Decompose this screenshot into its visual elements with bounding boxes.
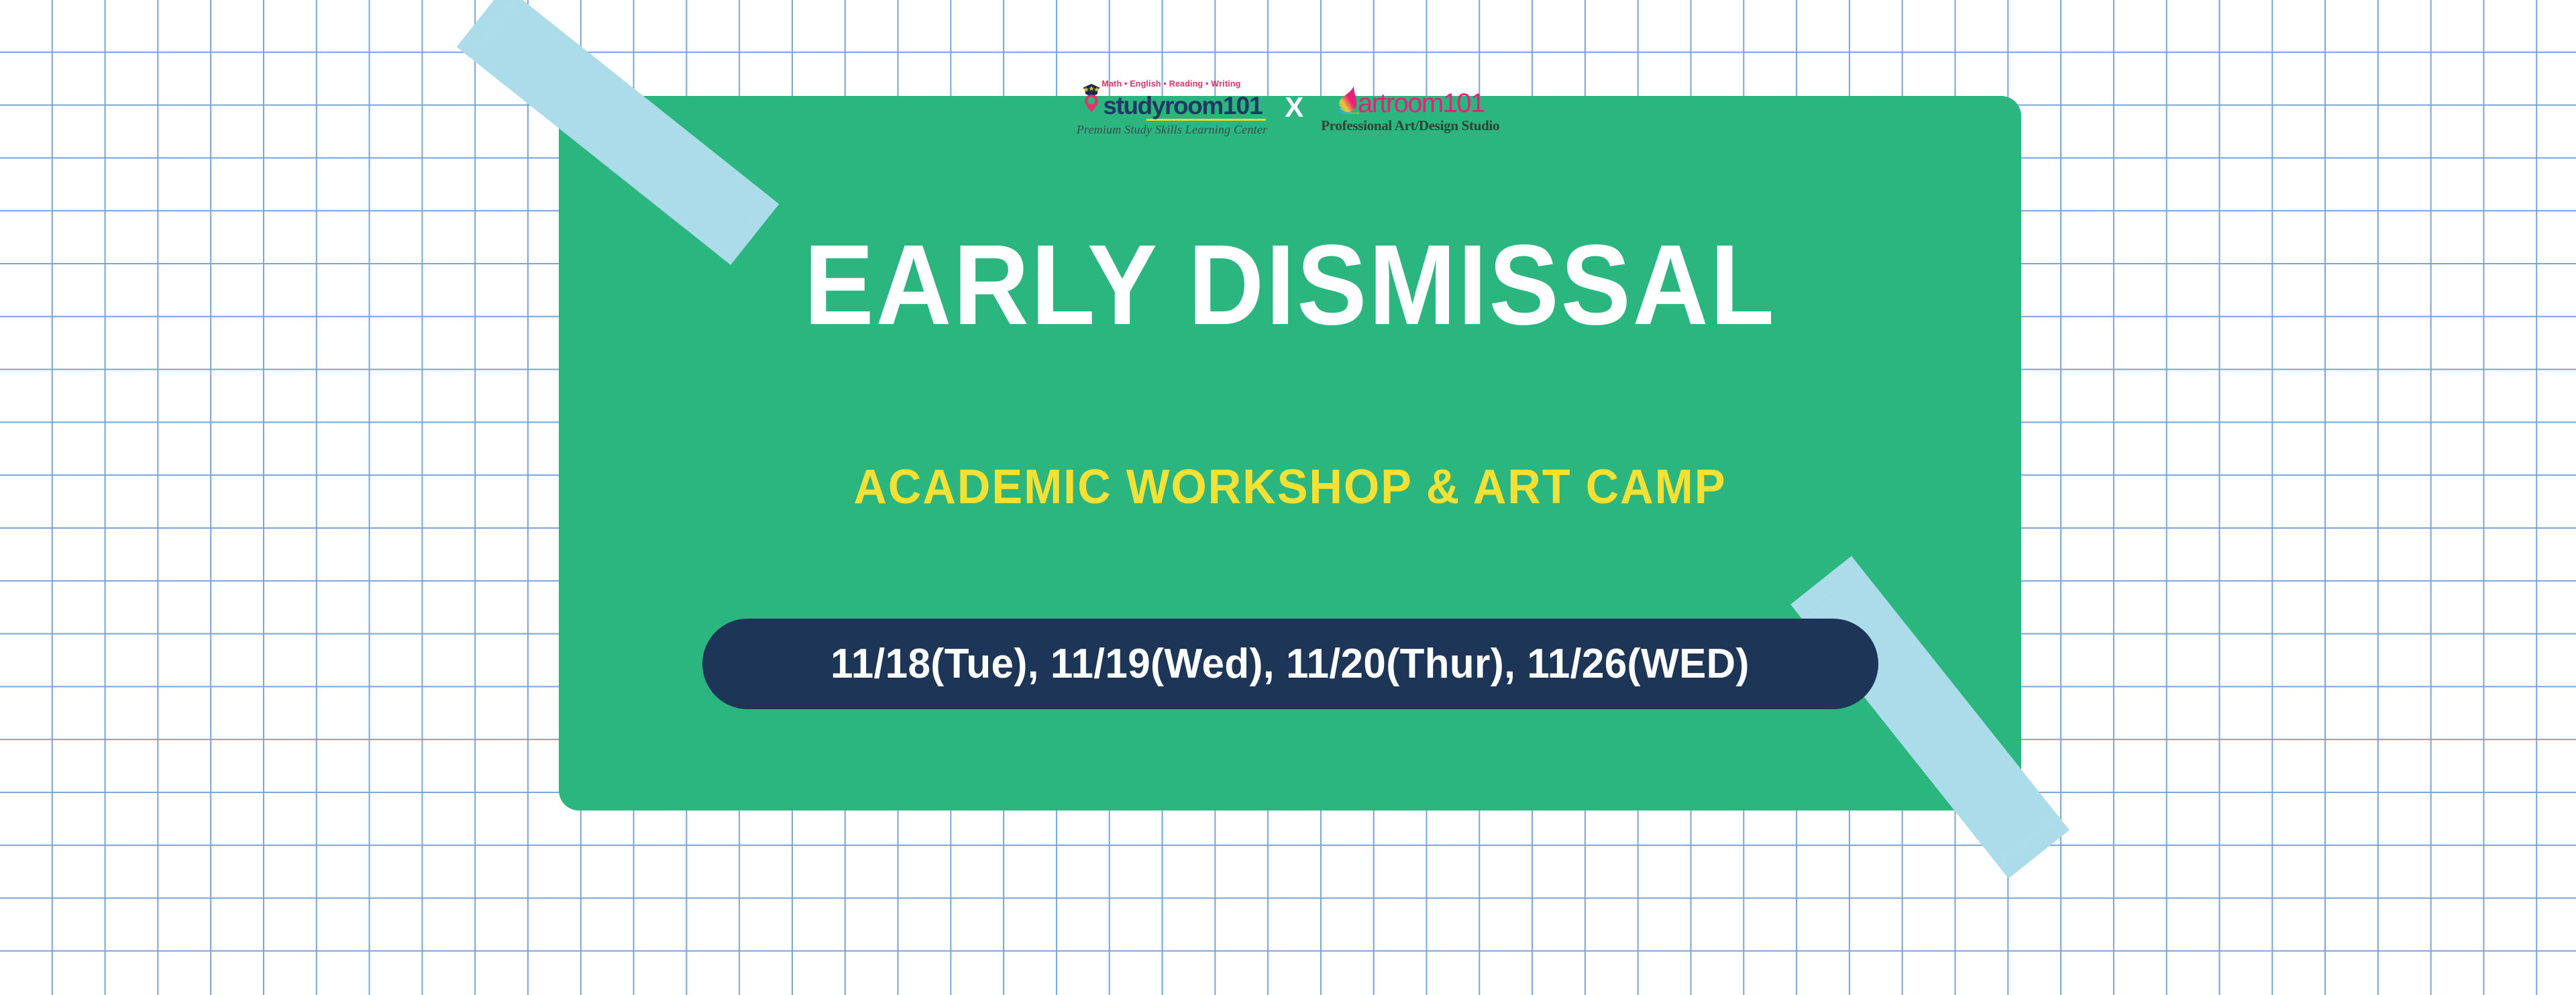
page-title: EARLY DISMISSAL bbox=[617, 228, 1963, 342]
graduation-cap-pin-icon bbox=[1081, 82, 1102, 118]
artroom-name: artroom101 bbox=[1358, 90, 1485, 117]
studyroom101-logo[interactable]: Math • English • Reading • Writing study… bbox=[1077, 82, 1268, 136]
artroom101-logo[interactable]: artroom101 Professional Art/Design Studi… bbox=[1321, 85, 1499, 133]
dates-badge: 11/18(Tue), 11/19(Wed), 11/20(Thur), 11/… bbox=[702, 619, 1878, 709]
studyroom-subjects-label: Math • English • Reading • Writing bbox=[1102, 80, 1240, 89]
studyroom-tagline: Premium Study Skills Learning Center bbox=[1077, 123, 1268, 136]
logo-separator-x: X bbox=[1285, 93, 1303, 124]
page-subtitle: ACADEMIC WORKSHOP & ART CAMP bbox=[596, 463, 1985, 511]
studyroom-name: studyroom bbox=[1103, 93, 1223, 118]
dates-label: 11/18(Tue), 11/19(Wed), 11/20(Thur), 11/… bbox=[831, 640, 1750, 688]
studyroom-wordmark-row: Math • English • Reading • Writing study… bbox=[1081, 82, 1262, 118]
artroom-wordmark-row: artroom101 bbox=[1336, 85, 1485, 117]
artroom-tagline: Professional Art/Design Studio bbox=[1321, 119, 1499, 133]
banner-stage: Math • English • Reading • Writing study… bbox=[0, 0, 2576, 995]
partner-logo-row: Math • English • Reading • Writing study… bbox=[0, 69, 2576, 148]
paint-drop-icon bbox=[1336, 85, 1359, 117]
studyroom-number: 101 bbox=[1223, 93, 1263, 118]
